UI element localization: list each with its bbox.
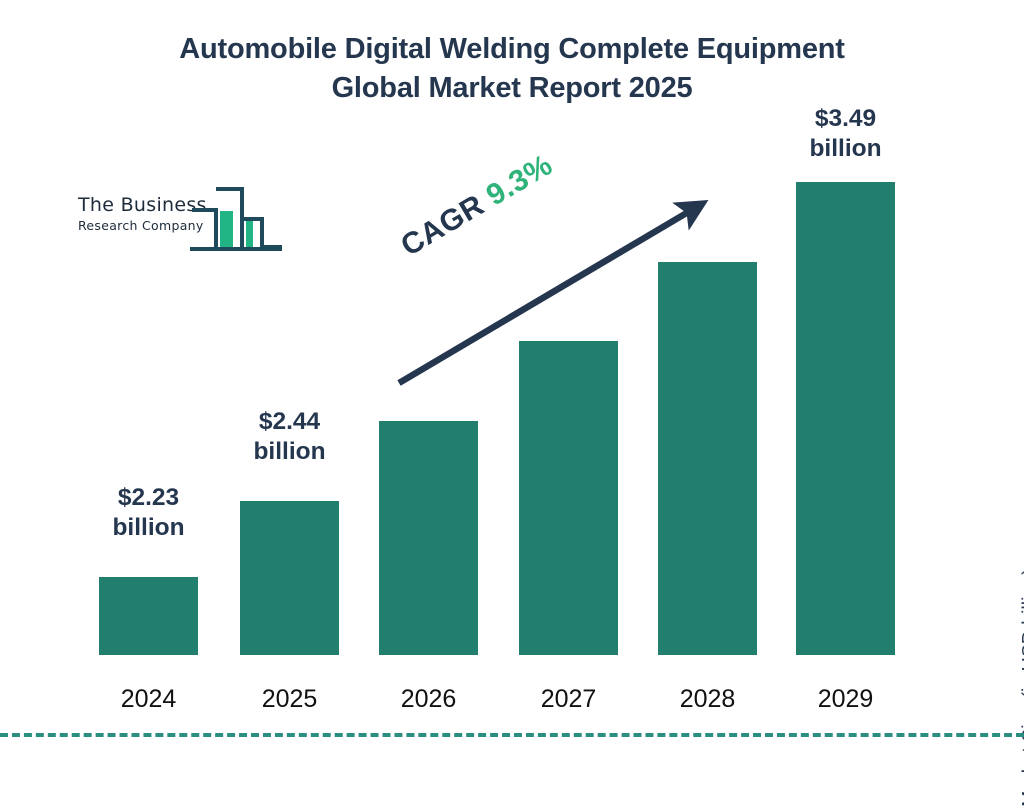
bar-unit-2025: billion bbox=[240, 437, 339, 467]
bar-label-2029: $3.49 billion bbox=[786, 104, 905, 164]
bar-2025 bbox=[240, 501, 339, 655]
footer-divider bbox=[0, 733, 1024, 737]
x-axis-label-2029: 2029 bbox=[796, 685, 895, 714]
x-axis-label-2026: 2026 bbox=[379, 685, 478, 714]
x-axis-label-2025: 2025 bbox=[240, 685, 339, 714]
bar-2026 bbox=[379, 421, 478, 655]
bar-label-2024: $2.23 billion bbox=[99, 483, 198, 543]
bar-2029 bbox=[796, 182, 895, 655]
chart-page: Automobile Digital Welding Complete Equi… bbox=[0, 0, 1024, 768]
bar-2028 bbox=[658, 262, 757, 655]
bar-2027 bbox=[519, 341, 618, 655]
bar-unit-2029: billion bbox=[786, 134, 905, 164]
bar-label-2025: $2.44 billion bbox=[240, 407, 339, 467]
x-axis-label-2028: 2028 bbox=[658, 685, 757, 714]
x-axis-label-2024: 2024 bbox=[99, 685, 198, 714]
bar-value-2025: $2.44 bbox=[240, 407, 339, 437]
bar-value-2029: $3.49 bbox=[786, 104, 905, 134]
bar-2024 bbox=[99, 577, 198, 655]
y-axis-title: Market Size (in USD billion) bbox=[1018, 568, 1024, 806]
bar-unit-2024: billion bbox=[99, 513, 198, 543]
bar-value-2024: $2.23 bbox=[99, 483, 198, 513]
bar-chart-plot: $2.23 billion 2024 $2.44 billion 2025 20… bbox=[0, 0, 1024, 768]
x-axis-label-2027: 2027 bbox=[519, 685, 618, 714]
